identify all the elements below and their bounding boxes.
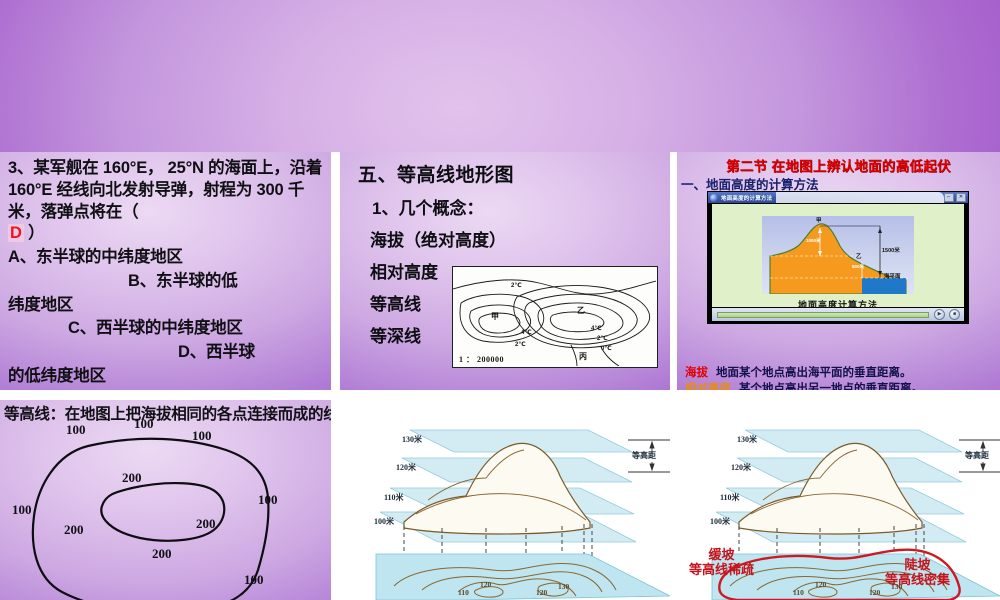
gutter-vertical-right (670, 152, 677, 600)
section-title: 第二节 在地图上辨认地面的高低起伏 (677, 155, 1000, 175)
layer-label-100: 100米 (374, 516, 394, 527)
media-window-tabfill (776, 192, 944, 203)
figure-area-label-jia: 甲 (491, 311, 499, 322)
definition-relative-height-key: 相对高度 (685, 383, 731, 390)
quiz-option-b: B、东半球的低 (8, 271, 325, 293)
media-canvas: 甲 1000米 乙 500米 1500米 海平面 地面高度计算方法 (712, 204, 964, 307)
definition-altitude-text: 地面某个地点高出海平面的垂直距离。 (716, 367, 912, 379)
contour-label-100-b: 100 (134, 416, 154, 432)
annotation-gentle-slope-detail: 等高线稀疏 (689, 563, 754, 578)
minimize-icon[interactable]: ⌐ (944, 193, 954, 202)
panel-contour-definition: 等高线：在地图上把海拔相同的各点连接而成的线 100 100 100 100 1… (0, 400, 331, 600)
panel-quiz-question: 3、某军舰在 160°E， 25°N 的海面上，沿着 160°E 经线向北发射导… (0, 152, 331, 390)
quiz-answer-mark: D (8, 224, 24, 242)
slope-base-contour-120-b: 120 (869, 588, 880, 597)
close-icon[interactable]: ✕ (956, 193, 966, 202)
mid-label: 乙 (856, 252, 862, 260)
contour-label-100-a: 100 (66, 422, 86, 438)
slope-contour-interval-label: 等高距 (965, 450, 989, 461)
contour-label-200-d: 200 (152, 546, 172, 562)
slope-layer-label-130: 130米 (737, 434, 757, 445)
media-window-titlebar[interactable]: 地面高度的计算方法 ⌐ ✕ (708, 192, 968, 203)
definition-relative-height-text: 某个地点高出另一地点的垂直距离。 (739, 383, 923, 390)
contour-label-200-b: 200 (196, 516, 216, 532)
slope-base-contour-120-a: 120 (815, 580, 826, 589)
concept-item-altitude: 海拔（绝对高度） (358, 226, 666, 251)
definition-relative-height: 相对高度某个地点高出另一地点的垂直距离。 (685, 380, 998, 390)
quiz-stem-close: ） (28, 224, 44, 242)
panel-layer-diagram: 130米 120米 110米 100米 等高距 110 120 120 130 (340, 400, 670, 600)
peak-label: 甲 (816, 216, 822, 224)
elevation-diagram: 甲 1000米 乙 500米 1500米 海平面 (762, 216, 914, 294)
concepts-title: 五、等高线地形图 (358, 160, 666, 187)
concepts-contour-figure: 甲 乙 丙 2℃ 4℃ 2℃ 4℃ 2℃ 0℃ 1 ： 200000 (452, 266, 658, 368)
contour-label-100-e: 100 (12, 502, 32, 518)
figure-area-label-yi: 乙 (577, 305, 585, 316)
slope-layer-label-120: 120米 (731, 462, 751, 473)
quiz-option-a: A、东半球的中纬度地区 (8, 247, 325, 269)
annotation-gentle-slope-title: 缓坡 (689, 548, 754, 563)
panel-video: 第二节 在地图上辨认地面的高低起伏 一、地面高度的计算方法 地面高度的计算方法 … (677, 152, 1000, 390)
quiz-stem: 3、某军舰在 160°E， 25°N 的海面上，沿着 160°E 经线向北发射导… (8, 158, 325, 223)
concepts-subtitle: 1、几个概念： (358, 194, 666, 219)
layer-diagram: 130米 120米 110米 100米 等高距 110 120 120 130 (340, 400, 670, 600)
contour-interval-label: 等高距 (632, 450, 656, 461)
figure-area-label-bing: 丙 (579, 351, 587, 362)
big-contour-map-svg (0, 424, 331, 600)
layer-label-130: 130米 (402, 434, 422, 445)
gutter-vertical-left (331, 152, 340, 600)
figure-contour-label-2: 4℃ (521, 329, 532, 336)
contour-heading: 等高线：在地图上把海拔相同的各点连接而成的线 (4, 402, 331, 424)
stop-icon[interactable]: ■ (949, 309, 960, 320)
total-height-label: 1500米 (882, 246, 900, 254)
figure-scale: 1 ： 200000 (459, 354, 504, 365)
big-contour-map: 100 100 100 100 100 100 200 200 200 200 (0, 424, 331, 600)
mid-height-label: 500米 (852, 264, 864, 270)
quiz-body: 3、某军舰在 160°E， 25°N 的海面上，沿着 160°E 经线向北发射导… (8, 158, 325, 388)
gutter-horizontal (0, 390, 1000, 400)
layer-label-120: 120米 (396, 462, 416, 473)
figure-contour-label-3: 2℃ (515, 341, 526, 348)
layer-label-110: 110米 (384, 492, 404, 503)
panel-slope-annotation: 130米 120米 110米 100米 等高距 110 120 120 130 … (677, 400, 1000, 600)
seek-bar[interactable] (717, 312, 929, 318)
figure-contour-label-6: 0℃ (601, 345, 612, 352)
contour-label-100-f: 100 (244, 572, 264, 588)
base-contour-120-a: 120 (480, 580, 491, 589)
definition-altitude-key: 海拔 (685, 367, 708, 379)
figure-contour-label-1: 2℃ (511, 282, 522, 289)
annotation-steep-slope-detail: 等高线密集 (885, 573, 950, 588)
peak-height-label: 1000米 (806, 238, 821, 244)
base-contour-110: 110 (458, 588, 469, 597)
quiz-option-b-cont: 纬度地区 (8, 295, 325, 317)
elevation-diagram-svg (762, 216, 914, 294)
quiz-option-d-cont: 的低纬度地区 (8, 366, 325, 388)
annotation-gentle-slope: 缓坡 等高线稀疏 (689, 548, 754, 578)
slope-layer-label-110: 110米 (720, 492, 740, 503)
annotation-steep-slope: 陡坡 等高线密集 (885, 558, 950, 588)
contour-label-100-c: 100 (192, 428, 212, 444)
figure-contour-label-5: 2℃ (597, 335, 608, 342)
media-app-icon (710, 194, 718, 202)
panel-concepts: 五、等高线地形图 1、几个概念： 海拔（绝对高度） 相对高度 等高线 等深线 (340, 152, 670, 390)
figure-contour-label-4: 4℃ (591, 325, 602, 332)
slope-diagram: 130米 120米 110米 100米 等高距 110 120 120 130 … (677, 400, 1000, 600)
slope-base-contour-110: 110 (793, 588, 804, 597)
base-contour-120-b: 120 (536, 588, 547, 597)
play-icon[interactable]: ▶ (934, 309, 945, 320)
annotation-steep-slope-title: 陡坡 (885, 558, 950, 573)
media-window-title: 地面高度的计算方法 (721, 194, 772, 202)
definition-altitude: 海拔地面某个地点高出海平面的垂直距离。 (685, 364, 998, 380)
contour-figure-svg (453, 267, 656, 366)
media-window-buttons[interactable]: ⌐ ✕ (944, 193, 968, 202)
slope-layer-label-100: 100米 (710, 516, 730, 527)
contour-label-100-d: 100 (258, 492, 278, 508)
contour-label-200-c: 200 (64, 522, 84, 538)
base-contour-130: 130 (558, 582, 569, 591)
media-player-footer[interactable]: ▶ ■ (712, 308, 964, 321)
contour-label-200-a: 200 (122, 470, 142, 486)
media-player-window[interactable]: 地面高度的计算方法 ⌐ ✕ (707, 191, 969, 324)
slide-root: 3、某军舰在 160°E， 25°N 的海面上，沿着 160°E 经线向北发射导… (0, 0, 1000, 600)
quiz-option-c: C、西半球的中纬度地区 (8, 318, 325, 340)
quiz-option-d: D、西半球 (8, 342, 325, 364)
sea-level-label: 海平面 (884, 272, 901, 280)
